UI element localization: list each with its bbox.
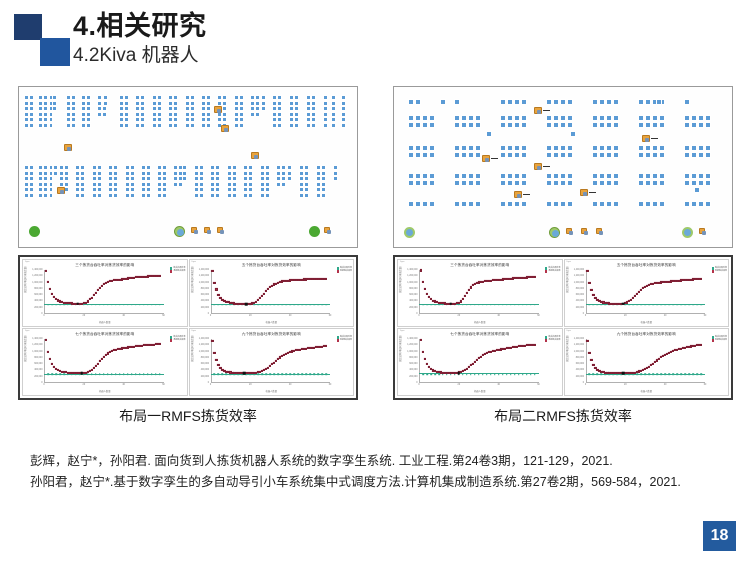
shelf-cell bbox=[304, 187, 309, 192]
efficiency-point bbox=[267, 288, 269, 290]
throughput-point bbox=[656, 304, 658, 306]
shelf-cell bbox=[43, 117, 48, 122]
efficiency-point bbox=[91, 297, 93, 299]
throughput-point bbox=[277, 304, 279, 306]
shelf-cell bbox=[645, 180, 651, 186]
chart-x-axis bbox=[586, 313, 706, 314]
throughput-point bbox=[490, 304, 492, 306]
shelf-cell bbox=[304, 165, 309, 170]
chart-y-tick: 600,000 bbox=[201, 294, 209, 296]
chart-y-tick: 1,400,000 bbox=[32, 269, 42, 271]
shelf-cell bbox=[243, 165, 248, 170]
shelf-cell bbox=[232, 193, 237, 198]
chart-x-tick: 60 bbox=[329, 315, 332, 317]
throughput-point bbox=[676, 374, 678, 376]
legend-swatch-efficiency-icon bbox=[712, 270, 714, 272]
throughput-point bbox=[218, 374, 220, 376]
chart-legend-label: 系统拣货效率 bbox=[173, 339, 185, 342]
throughput-point bbox=[668, 304, 670, 306]
shelf-cell bbox=[613, 180, 619, 186]
shelf-cell bbox=[38, 171, 43, 176]
shelf-cell bbox=[250, 95, 255, 100]
shelf-cell bbox=[130, 182, 135, 187]
chart-x-tick: 0 bbox=[585, 384, 586, 386]
throughput-point bbox=[47, 304, 49, 306]
shelf-cell bbox=[461, 201, 467, 207]
chart-x-axis-label: 机器人数量 bbox=[398, 389, 562, 393]
shelf-cell bbox=[415, 122, 421, 128]
throughput-point bbox=[297, 374, 299, 376]
throughput-point bbox=[636, 374, 638, 376]
shelf-cell bbox=[168, 101, 173, 106]
shelf-cell bbox=[311, 123, 316, 128]
shelf-cell bbox=[38, 182, 43, 187]
shelf-cell bbox=[553, 145, 559, 151]
page-number-badge: 18 bbox=[703, 521, 736, 551]
shelf-cell bbox=[691, 180, 697, 186]
efficiency-point bbox=[424, 358, 426, 360]
shelf-cell bbox=[507, 145, 513, 151]
throughput-point bbox=[313, 304, 315, 306]
shelf-cell bbox=[486, 131, 492, 137]
shelf-cell bbox=[422, 122, 428, 128]
chart-x-tick: 60 bbox=[329, 384, 332, 386]
throughput-point bbox=[652, 374, 654, 376]
shelf-cell bbox=[331, 112, 336, 117]
throughput-point bbox=[91, 304, 93, 306]
shelf-cell bbox=[210, 182, 215, 187]
shelf-cell bbox=[429, 122, 435, 128]
shelf-cell bbox=[234, 117, 239, 122]
throughput-point bbox=[317, 304, 319, 306]
chart-y-tick: 400,000 bbox=[409, 369, 417, 371]
optimum-point-marker bbox=[622, 303, 625, 306]
throughput-point bbox=[87, 304, 89, 306]
efficiency-point bbox=[95, 292, 97, 294]
shelf-cell bbox=[92, 176, 97, 181]
chart-x-tick: 20 bbox=[249, 315, 252, 317]
shelf-cell bbox=[75, 165, 80, 170]
shelf-cell bbox=[24, 117, 29, 122]
shelf-cell bbox=[316, 193, 321, 198]
chart-y-axis-label: 拣货效率(单位时间拣货量) bbox=[398, 266, 402, 293]
robot-marker bbox=[514, 191, 522, 198]
shelf-cell bbox=[173, 106, 178, 111]
chart-y-axis-label: 拣货效率(单位时间拣货量) bbox=[23, 266, 27, 293]
shelf-cell bbox=[287, 165, 292, 170]
shelf-cell bbox=[43, 187, 48, 192]
chart-panel: Figure七个拣货台吞吐率对拣货效率的影响拣货效率(单位时间拣货量)1,400… bbox=[22, 328, 188, 396]
shelf-cell bbox=[49, 193, 54, 198]
shelf-cell bbox=[306, 123, 311, 128]
shelf-cell bbox=[29, 123, 34, 128]
shelf-cell bbox=[239, 112, 244, 117]
efficiency-point bbox=[424, 288, 426, 290]
robot-marker bbox=[580, 189, 588, 196]
shelf-cell bbox=[29, 176, 34, 181]
shelf-cell bbox=[248, 171, 253, 176]
shelf-cell bbox=[514, 122, 520, 128]
shelf-cell bbox=[24, 176, 29, 181]
shelf-cell bbox=[24, 101, 29, 106]
chart-legend-item: 系统拣货效率 bbox=[545, 270, 560, 273]
efficiency-point bbox=[470, 364, 472, 366]
chart-y-tick: 1,200,000 bbox=[199, 344, 209, 346]
shelf-cell bbox=[277, 112, 282, 117]
chart-y-axis-label: 拣货效率(单位时间拣货量) bbox=[23, 335, 27, 362]
shelf-cell bbox=[507, 99, 513, 105]
chart-x-tick: 20 bbox=[83, 315, 86, 317]
shelf-cell bbox=[422, 145, 428, 151]
legend-swatch-efficiency-icon bbox=[712, 339, 714, 341]
shelf-cell bbox=[553, 115, 559, 121]
shelf-cell bbox=[113, 193, 118, 198]
chart-y-tick: 1,400,000 bbox=[574, 269, 584, 271]
shelf-cell bbox=[108, 176, 113, 181]
shelf-cell bbox=[698, 152, 704, 158]
shelf-cell bbox=[560, 122, 566, 128]
throughput-point bbox=[426, 304, 428, 306]
shelf-cell bbox=[698, 180, 704, 186]
shelf-cell bbox=[124, 117, 129, 122]
chart-legend-label: 系统拣货效率 bbox=[548, 270, 560, 273]
shelf-cell bbox=[53, 171, 58, 176]
shelf-cell bbox=[29, 182, 34, 187]
shelf-cell bbox=[304, 176, 309, 181]
throughput-point bbox=[692, 304, 694, 306]
shelf-cell bbox=[461, 180, 467, 186]
throughput-point bbox=[680, 304, 682, 306]
shelf-cell bbox=[691, 152, 697, 158]
shelf-cell bbox=[311, 101, 316, 106]
shelf-cell bbox=[103, 101, 108, 106]
shelf-cell bbox=[553, 152, 559, 158]
robot-marker bbox=[482, 155, 490, 162]
throughput-point bbox=[131, 304, 133, 306]
shelf-cell bbox=[194, 171, 199, 176]
chart-y-tick: 600,000 bbox=[409, 294, 417, 296]
throughput-point bbox=[696, 304, 698, 306]
shelf-cell bbox=[141, 171, 146, 176]
shelf-cell bbox=[260, 187, 265, 192]
shelf-cell bbox=[698, 145, 704, 151]
throughput-point bbox=[498, 304, 500, 306]
chart-x-axis-label: 机器人数量 bbox=[23, 389, 187, 393]
efficiency-point bbox=[47, 351, 49, 353]
throughput-point bbox=[438, 373, 440, 375]
shelf-cell bbox=[546, 122, 552, 128]
chart-y-axis-label: 拣货效率(单位时间拣货量) bbox=[190, 266, 194, 293]
shelf-cell bbox=[698, 122, 704, 128]
efficiency-point bbox=[97, 363, 99, 365]
throughput-point bbox=[214, 374, 216, 376]
shelf-cell bbox=[140, 106, 145, 111]
shelf-cell bbox=[656, 99, 662, 105]
throughput-point bbox=[147, 304, 149, 306]
shelf-cell bbox=[173, 117, 178, 122]
shelf-cell bbox=[199, 193, 204, 198]
shelf-cell bbox=[599, 145, 605, 151]
efficiency-point bbox=[211, 340, 213, 342]
chart-y-tick: 800,000 bbox=[201, 357, 209, 359]
shelf-cell bbox=[422, 115, 428, 121]
shelf-cell bbox=[239, 123, 244, 128]
shelf-cell bbox=[182, 176, 187, 181]
shelf-cell bbox=[38, 176, 43, 181]
shelf-cell bbox=[210, 193, 215, 198]
efficiency-point bbox=[470, 286, 472, 288]
shelf-cell bbox=[514, 152, 520, 158]
shelf-cell bbox=[599, 99, 605, 105]
shelf-cell bbox=[29, 193, 34, 198]
shelf-cell bbox=[468, 145, 474, 151]
throughput-point bbox=[51, 304, 53, 306]
shelf-cell bbox=[659, 180, 665, 186]
chart-x-tick: 0 bbox=[418, 315, 419, 317]
shelf-cell bbox=[265, 187, 270, 192]
shelf-cell bbox=[323, 123, 328, 128]
shelf-cell bbox=[546, 180, 552, 186]
shelf-cell bbox=[66, 95, 71, 100]
throughput-point bbox=[269, 304, 271, 306]
shelf-cell bbox=[217, 95, 222, 100]
chart-title: 七个拣货台吞吐率对拣货效率的影响 bbox=[23, 332, 187, 337]
throughput-point bbox=[119, 373, 121, 375]
throughput-point bbox=[151, 373, 153, 375]
shelf-cell bbox=[141, 187, 146, 192]
chart-plot-area: 1,400,0001,200,0001,000,000800,000600,00… bbox=[44, 270, 164, 314]
chart-x-axis-label: 机器人数量 bbox=[398, 320, 562, 324]
throughput-point bbox=[474, 373, 476, 375]
throughput-point bbox=[309, 374, 311, 376]
shelf-cell bbox=[289, 112, 294, 117]
chart-y-tick: 0 bbox=[416, 313, 417, 315]
chart-x-tick: 60 bbox=[162, 315, 165, 317]
chart-y-tick: 0 bbox=[583, 382, 584, 384]
shelf-cell bbox=[43, 182, 48, 187]
shelf-cell bbox=[507, 122, 513, 128]
shelf-cell bbox=[546, 145, 552, 151]
chart-y-axis-label: 拣货效率(单位时间拣货量) bbox=[565, 335, 569, 362]
chart-legend-item: 系统拣货效率 bbox=[712, 339, 727, 342]
shelf-cell bbox=[272, 95, 277, 100]
shelf-cell bbox=[461, 145, 467, 151]
shelf-cell bbox=[108, 171, 113, 176]
chart-x-tick: 20 bbox=[458, 315, 461, 317]
throughput-point bbox=[518, 304, 520, 306]
robot-queue-marker bbox=[566, 228, 572, 234]
shelf-cell bbox=[49, 112, 54, 117]
throughput-point bbox=[281, 304, 283, 306]
legend-swatch-throughput-icon bbox=[545, 336, 547, 338]
throughput-point bbox=[119, 304, 121, 306]
chart-y-tick: 600,000 bbox=[34, 294, 42, 296]
chart-y-tick: 1,200,000 bbox=[199, 275, 209, 277]
shelf-cell bbox=[454, 152, 460, 158]
shelf-cell bbox=[97, 171, 102, 176]
shelf-cell bbox=[429, 201, 435, 207]
shelf-cell bbox=[248, 165, 253, 170]
throughput-point bbox=[640, 374, 642, 376]
shelf-cell bbox=[705, 152, 711, 158]
shelf-cell bbox=[141, 176, 146, 181]
shelf-cell bbox=[333, 176, 338, 181]
efficiency-point bbox=[273, 362, 275, 364]
throughput-point bbox=[502, 304, 504, 306]
shelf-cell bbox=[289, 123, 294, 128]
shelf-cell bbox=[43, 171, 48, 176]
optimum-point-marker bbox=[450, 302, 453, 305]
shelf-cell bbox=[86, 106, 91, 111]
shelf-cell bbox=[49, 187, 54, 192]
shelf-cell bbox=[97, 112, 102, 117]
shelf-cell bbox=[422, 173, 428, 179]
shelf-cell bbox=[546, 201, 552, 207]
chart-legend-item: 系统拣货效率 bbox=[170, 339, 185, 342]
shelf-cell bbox=[422, 152, 428, 158]
shelf-cell bbox=[659, 115, 665, 121]
chart-y-tick: 400,000 bbox=[409, 300, 417, 302]
efficiency-point bbox=[265, 290, 267, 292]
throughput-point bbox=[273, 374, 275, 376]
shelf-cell bbox=[97, 176, 102, 181]
shelf-cell bbox=[415, 115, 421, 121]
shelf-cell bbox=[24, 95, 29, 100]
shelf-cell bbox=[408, 180, 414, 186]
robot-direction-arrow bbox=[589, 192, 596, 193]
shelf-cell bbox=[659, 201, 665, 207]
chart-y-tick: 400,000 bbox=[34, 369, 42, 371]
chart-x-tick: 20 bbox=[83, 384, 86, 386]
chart-y-tick: 800,000 bbox=[409, 288, 417, 290]
efficiency-point bbox=[420, 339, 422, 341]
shelf-cell bbox=[606, 122, 612, 128]
chart-y-tick: 0 bbox=[416, 382, 417, 384]
shelf-cell bbox=[157, 182, 162, 187]
shelf-cell bbox=[29, 95, 34, 100]
throughput-point bbox=[474, 304, 476, 306]
shelf-cell bbox=[415, 99, 421, 105]
shelf-cell bbox=[108, 182, 113, 187]
shelf-cell bbox=[638, 201, 644, 207]
legend-swatch-efficiency-icon bbox=[170, 339, 172, 341]
shelf-cell bbox=[691, 115, 697, 121]
chart-title: 五个拣货台吞吐率对拣货效率的影响 bbox=[190, 263, 354, 268]
chart-legend-label: 系统拣货效率 bbox=[715, 270, 727, 273]
chart-x-tick: 40 bbox=[289, 315, 292, 317]
shelf-cell bbox=[168, 112, 173, 117]
shelf-cell bbox=[638, 173, 644, 179]
chart-y-axis bbox=[586, 270, 587, 314]
picking-station bbox=[404, 227, 415, 238]
shelf-cell bbox=[119, 123, 124, 128]
shelf-cell bbox=[125, 187, 130, 192]
shelf-cell bbox=[415, 173, 421, 179]
shelf-cell bbox=[64, 187, 69, 192]
robot-marker bbox=[57, 187, 65, 194]
shelf-cell bbox=[92, 187, 97, 192]
chart-plot-area: 1,400,0001,200,0001,000,000800,000600,00… bbox=[211, 270, 331, 314]
throughput-point bbox=[139, 373, 141, 375]
shelf-cell bbox=[429, 152, 435, 158]
efficiency-point bbox=[103, 356, 105, 358]
shelf-cell bbox=[408, 122, 414, 128]
shelf-cell bbox=[80, 193, 85, 198]
chart-y-tick: 1,400,000 bbox=[32, 338, 42, 340]
shelf-cell bbox=[190, 95, 195, 100]
chart-x-tick: 0 bbox=[585, 315, 586, 317]
shelf-cell bbox=[652, 201, 658, 207]
throughput-point bbox=[313, 374, 315, 376]
throughput-point bbox=[261, 374, 263, 376]
shelf-cell bbox=[468, 152, 474, 158]
robot-direction-arrow bbox=[543, 110, 550, 111]
throughput-point bbox=[629, 304, 631, 306]
shelf-cell bbox=[684, 201, 690, 207]
throughput-point bbox=[625, 304, 627, 306]
shelf-cell bbox=[157, 106, 162, 111]
chart-x-axis-label: 机器人数量 bbox=[190, 389, 354, 393]
shelf-cell bbox=[500, 152, 506, 158]
shelf-cell bbox=[468, 115, 474, 121]
shelf-cell bbox=[75, 187, 80, 192]
shelf-cell bbox=[265, 171, 270, 176]
legend-swatch-efficiency-icon bbox=[170, 270, 172, 272]
shelf-cell bbox=[234, 123, 239, 128]
shelf-cell bbox=[43, 95, 48, 100]
shelf-cell bbox=[606, 115, 612, 121]
shelf-cell bbox=[222, 106, 227, 111]
efficiency-point bbox=[472, 363, 474, 365]
chart-y-tick: 200,000 bbox=[409, 376, 417, 378]
efficiency-point bbox=[213, 351, 215, 353]
legend-swatch-efficiency-icon bbox=[337, 270, 339, 272]
shelf-cell bbox=[49, 123, 54, 128]
chart-y-tick: 1,000,000 bbox=[574, 282, 584, 284]
shelf-cell bbox=[119, 117, 124, 122]
efficiency-point bbox=[99, 360, 101, 362]
shelf-cell bbox=[255, 106, 260, 111]
shelf-cell bbox=[168, 123, 173, 128]
shelf-cell bbox=[599, 201, 605, 207]
shelf-cell bbox=[684, 99, 690, 105]
chart-y-tick: 1,400,000 bbox=[407, 338, 417, 340]
robot-marker bbox=[642, 135, 650, 142]
shelf-cell bbox=[38, 165, 43, 170]
chart-y-tick: 200,000 bbox=[34, 307, 42, 309]
robot-queue-marker bbox=[204, 227, 210, 233]
shelf-cell bbox=[311, 95, 316, 100]
throughput-point bbox=[422, 304, 424, 306]
shelf-cell bbox=[130, 165, 135, 170]
chart-y-tick: 1,200,000 bbox=[574, 344, 584, 346]
shelf-cell bbox=[321, 165, 326, 170]
shelf-cell bbox=[194, 165, 199, 170]
shelf-cell bbox=[206, 101, 211, 106]
shelf-cell bbox=[276, 171, 281, 176]
chart-y-tick: 0 bbox=[41, 313, 42, 315]
shelf-cell bbox=[546, 115, 552, 121]
legend-swatch-throughput-icon bbox=[170, 267, 172, 269]
throughput-point bbox=[131, 373, 133, 375]
shelf-cell bbox=[546, 152, 552, 158]
chart-legend-item: 系统拣货效率 bbox=[170, 270, 185, 273]
throughput-point bbox=[293, 374, 295, 376]
chart-y-tick: 0 bbox=[41, 382, 42, 384]
efficiency-point bbox=[51, 363, 53, 365]
shelf-cell bbox=[599, 122, 605, 128]
shelf-cell bbox=[521, 122, 527, 128]
